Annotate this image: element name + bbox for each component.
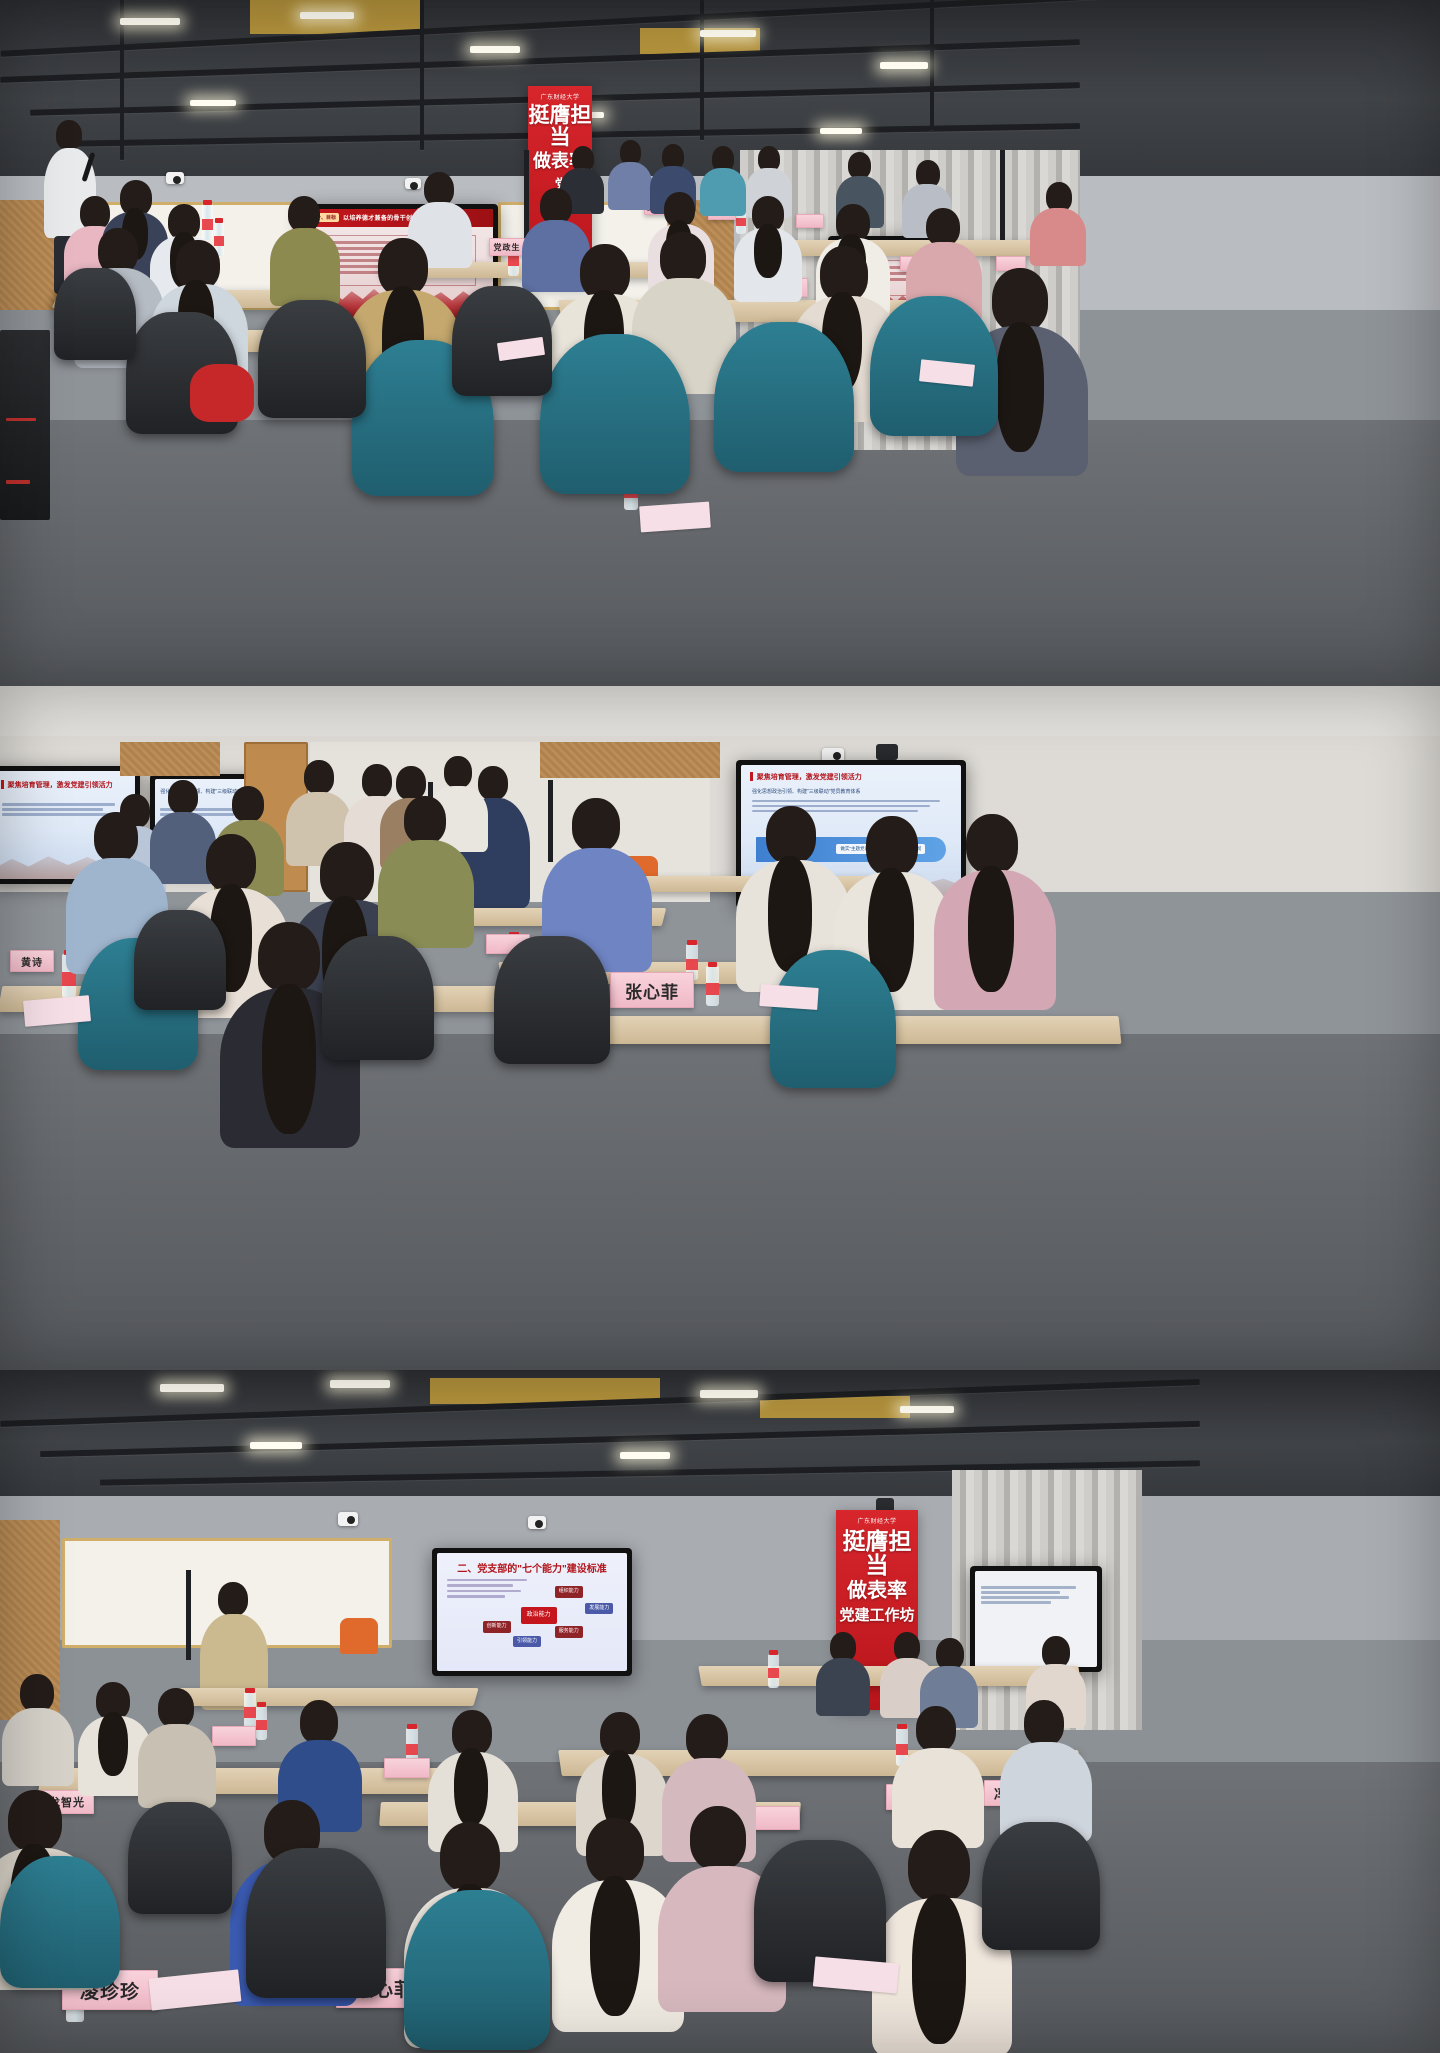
av-cabinet [0, 330, 50, 520]
camera-icon [338, 1512, 358, 1526]
chair [770, 950, 896, 1088]
banner-logo: 广东财经大学 [540, 92, 579, 101]
photo-collage: 一、目标 以培养德才兼备的骨干创新人才为目标 以培养德才兼备的骨干创新人才为目标 [0, 0, 1440, 2053]
ceiling-light [880, 62, 928, 69]
banner-line-1: 挺膺担当 [836, 1529, 918, 1577]
chair [714, 322, 854, 472]
slide-subtitle: 强化思想政治引领、构建"三级联动"党员教育体系 [752, 788, 861, 795]
speaker-icon [876, 744, 898, 760]
chair [404, 1890, 550, 2050]
chair [128, 1802, 232, 1914]
banner-line-3: 党建工作坊 [839, 1608, 914, 1624]
main-display-panel3: 二、党支部的"七个能力"建设标准 政治能力 组织能力 发展能力 服务能力 引领能… [432, 1548, 632, 1676]
chair [982, 1822, 1100, 1950]
chair [54, 268, 136, 360]
camera-icon [528, 1516, 546, 1529]
slide-title: 聚焦培育管理，激发党建引领活力 [757, 772, 862, 782]
ceiling-light [820, 128, 862, 134]
banner-line-1: 挺膺担当 [528, 105, 592, 149]
nameplate [796, 214, 824, 228]
mindmap-node: 引领能力 [513, 1636, 541, 1648]
photo-panel-1: 一、目标 以培养德才兼备的骨干创新人才为目标 以培养德才兼备的骨干创新人才为目标 [0, 0, 1440, 686]
photo-panel-3: 二、党支部的"七个能力"建设标准 政治能力 组织能力 发展能力 服务能力 引领能… [0, 1370, 1440, 2053]
chair [0, 1856, 120, 1988]
ceiling-light [700, 1390, 758, 1398]
chair [246, 1848, 386, 1998]
nameplate: 党政生 [489, 238, 525, 256]
ceiling-light [160, 1384, 224, 1392]
ceiling-light [300, 12, 354, 19]
chair [134, 910, 226, 1010]
nameplate: 黄诗 [10, 950, 54, 972]
side-display-panel3 [970, 1566, 1102, 1672]
nameplate [384, 1758, 430, 1778]
ceiling-light [900, 1406, 954, 1413]
ceiling-light [700, 30, 756, 37]
chair [322, 936, 434, 1060]
tripod [186, 1570, 191, 1660]
photo-panel-2: 聚焦培育管理，激发党建引领活力 强化思想政治引领、构建"三级联动"党员教育体系 … [0, 686, 1440, 1370]
ceiling-light [120, 18, 180, 25]
chair [494, 936, 610, 1064]
ceiling-light [250, 1442, 302, 1449]
nameplate [212, 1726, 256, 1746]
camera-icon [166, 172, 184, 184]
mindmap-node: 组织能力 [555, 1586, 583, 1598]
ceiling-light [330, 1380, 390, 1388]
ceiling-light [620, 1452, 670, 1459]
mindmap-node: 政治能力 [521, 1607, 557, 1624]
camera-icon [405, 178, 421, 189]
slide-title-small: 聚焦培育管理，激发党建引领活力 [8, 780, 113, 790]
chair [258, 300, 366, 418]
banner-logo: 广东财经大学 [857, 1516, 896, 1525]
banner-line-2: 做表率 [847, 1581, 907, 1602]
tripod [548, 780, 553, 862]
nameplate: 张心菲 [610, 972, 694, 1008]
ceiling-light [470, 46, 520, 53]
mindmap-node: 创新能力 [483, 1621, 511, 1633]
ceiling-light [190, 100, 236, 106]
mindmap-node: 服务能力 [555, 1626, 583, 1638]
accent-chair [340, 1618, 378, 1654]
mindmap-node: 发展能力 [585, 1603, 613, 1615]
slide-title: 二、党支部的"七个能力"建设标准 [437, 1560, 627, 1575]
chair [540, 334, 690, 494]
